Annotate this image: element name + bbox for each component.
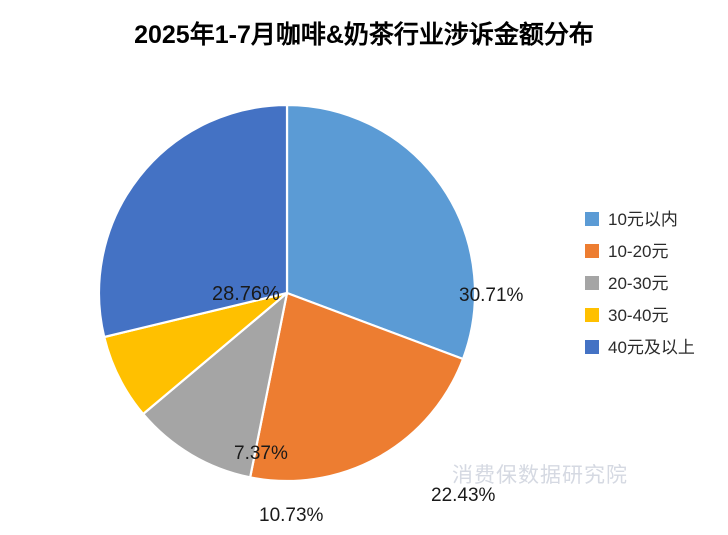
pie-plot-area: 30.71% 22.43% 10.73% 7.37% 28.76% (79, 85, 495, 501)
legend-item-10元以内[interactable]: 10元以内 (585, 203, 725, 235)
legend-item-40元及以上[interactable]: 40元及以上 (585, 331, 725, 363)
pie-data-label-10元以内: 30.71% (459, 285, 523, 307)
legend-swatch-icon (585, 276, 599, 290)
legend-swatch-icon (585, 308, 599, 322)
pie-data-label-20-30元: 10.73% (259, 505, 323, 527)
pie-slice-group (99, 105, 475, 481)
pie-svg (79, 85, 495, 501)
legend-item-10-20元[interactable]: 10-20元 (585, 235, 725, 267)
chart-legend: 10元以内10-20元20-30元30-40元40元及以上 (585, 203, 725, 363)
legend-item-label: 20-30元 (608, 275, 668, 292)
legend-swatch-icon (585, 340, 599, 354)
legend-item-label: 30-40元 (608, 307, 668, 324)
legend-swatch-icon (585, 244, 599, 258)
legend-item-label: 40元及以上 (608, 339, 695, 356)
legend-item-label: 10-20元 (608, 243, 668, 260)
legend-item-20-30元[interactable]: 20-30元 (585, 267, 725, 299)
watermark-text: 消费保数据研究院 (452, 459, 628, 489)
pie-chart-figure: 2025年1-7月咖啡&奶茶行业涉诉金额分布 30.71% 22.43% 10.… (0, 0, 728, 535)
pie-data-label-40元及以上: 28.76% (212, 283, 280, 306)
legend-item-30-40元[interactable]: 30-40元 (585, 299, 725, 331)
legend-swatch-icon (585, 212, 599, 226)
legend-item-label: 10元以内 (608, 211, 678, 228)
pie-data-label-30-40元: 7.37% (234, 443, 288, 465)
chart-title: 2025年1-7月咖啡&奶茶行业涉诉金额分布 (0, 18, 728, 52)
